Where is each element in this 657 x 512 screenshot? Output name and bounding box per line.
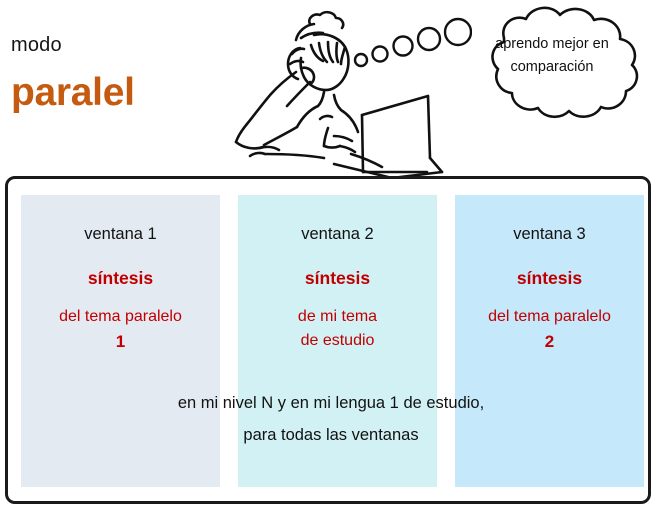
window-1-title: ventana 1 [21,223,220,245]
window-column-3-content: ventana 3 síntesis del tema paralelo 2 [455,195,644,354]
window-3-title: ventana 3 [455,223,644,245]
window-column-3[interactable]: ventana 3 síntesis del tema paralelo 2 [455,195,644,487]
window-3-description: del tema paralelo [455,305,644,329]
mode-label: modo [11,33,62,57]
window-3-number: 2 [455,329,644,354]
window-column-2[interactable]: ventana 2 síntesis de mi tema de estudio [238,195,437,487]
window-2-description: de mi tema de estudio [238,305,437,353]
window-1-description: del tema paralelo [21,305,220,329]
mode-name-title: paralel [11,70,135,116]
window-column-1-content: ventana 1 síntesis del tema paralelo 1 [21,195,220,354]
window-column-1[interactable]: ventana 1 síntesis del tema paralelo 1 [21,195,220,487]
window-2-synthesis-label: síntesis [238,267,437,290]
window-1-number: 1 [21,329,220,354]
thought-bubble-text: aprendo mejor en comparación [472,33,632,79]
window-3-synthesis-label: síntesis [455,267,644,290]
windows-columns: ventana 1 síntesis del tema paralelo 1 v… [21,195,641,487]
window-column-2-content: ventana 2 síntesis de mi tema de estudio [238,195,437,353]
window-1-synthesis-label: síntesis [21,267,220,290]
window-2-title: ventana 2 [238,223,437,245]
parallel-mode-frame: ventana 1 síntesis del tema paralelo 1 v… [5,176,651,504]
header-area: modo paralel [0,0,657,176]
